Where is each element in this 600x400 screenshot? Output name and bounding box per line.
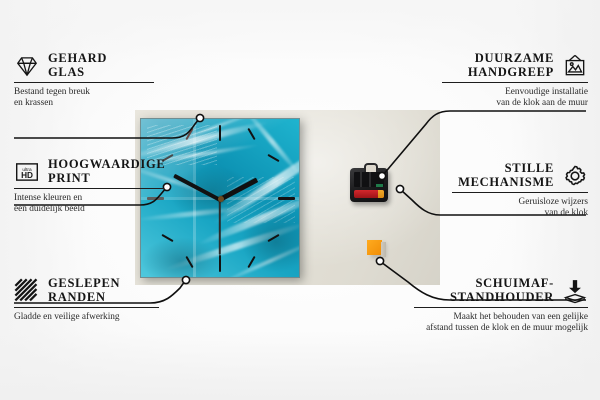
feature-geslepen-randen[interactable]: GESLEPEN RANDEN Gladde en veilige afwerk… [14, 277, 159, 323]
quartz-movement [350, 168, 388, 202]
divider [14, 82, 154, 83]
bevelled-edge-icon [14, 278, 40, 304]
feature-title: STILLE [458, 162, 554, 176]
feature-title: GEHARD [48, 52, 107, 66]
picture-hanger-icon [562, 53, 588, 79]
feature-description: een duidelijk beeld [14, 204, 164, 215]
diamond-icon [14, 53, 40, 79]
feature-description: Eenvoudige installatie [442, 87, 588, 98]
divider [14, 307, 159, 308]
feature-description: Maakt het behouden van een gelijke [414, 312, 588, 323]
feature-title: HOOGWAARDIGE [48, 158, 165, 172]
feature-title: GLAS [48, 66, 107, 80]
product-photo [135, 110, 440, 285]
feature-title: DUURZAME [468, 52, 554, 66]
feature-description: van de klok [452, 208, 588, 219]
clock-tick [219, 125, 221, 141]
feature-title: HANDGREEP [468, 66, 554, 80]
feature-title: GESLEPEN [48, 277, 120, 291]
feature-duurzame-handgreep[interactable]: DUURZAME HANDGREEP Eenvoudige installati… [442, 52, 588, 109]
feature-hoogwaardige-print[interactable]: ultra HD HOOGWAARDIGE PRINT Intense kleu… [14, 158, 164, 215]
spacer-stack-icon [562, 278, 588, 304]
feature-title: PRINT [48, 172, 165, 186]
clock-tick [278, 197, 295, 200]
feature-title: MECHANISME [458, 176, 554, 190]
hanger-loop [364, 163, 378, 172]
gear-icon [562, 163, 588, 189]
feature-gehard-glas[interactable]: GEHARD GLAS Bestand tegen breuk en krass… [14, 52, 154, 109]
feature-schuimaf-standhouder[interactable]: SCHUIMAF- STANDHOUDER Maakt het behouden… [414, 277, 588, 334]
feature-description: van de klok aan de muur [442, 98, 588, 109]
feature-description: Bestand tegen breuk [14, 87, 154, 98]
glass-wall-clock [140, 118, 300, 278]
feature-title: SCHUIMAF- [450, 277, 554, 291]
feature-description: Intense kleuren en [14, 193, 164, 204]
ultra-hd-icon-bottom: HD [21, 171, 33, 180]
clock-center-cap [218, 196, 224, 202]
battery-terminal [378, 190, 384, 198]
foam-spacer-side [381, 242, 386, 257]
feature-stille-mechanisme[interactable]: STILLE MECHANISME Geruisloze wijzers van… [452, 162, 588, 219]
divider [414, 307, 588, 308]
feature-title: STANDHOUDER [450, 291, 554, 305]
foam-spacer [367, 240, 382, 255]
divider [14, 188, 164, 189]
movement-label [376, 184, 383, 187]
battery [354, 190, 384, 198]
infographic-canvas: GEHARD GLAS Bestand tegen breuk en krass… [0, 0, 600, 400]
background-gradient-bottom [0, 330, 600, 400]
feature-description: afstand tussen de klok en de muur mogeli… [414, 323, 588, 334]
feature-description: Gladde en veilige afwerking [14, 312, 159, 323]
clock-tick [219, 255, 221, 272]
clock-second-hand [219, 199, 221, 255]
divider [452, 192, 588, 193]
divider [442, 82, 588, 83]
feature-title: RANDEN [48, 291, 120, 305]
feature-description: Geruisloze wijzers [452, 197, 588, 208]
feature-description: en krassen [14, 98, 154, 109]
ultra-hd-icon: ultra HD [14, 159, 40, 185]
